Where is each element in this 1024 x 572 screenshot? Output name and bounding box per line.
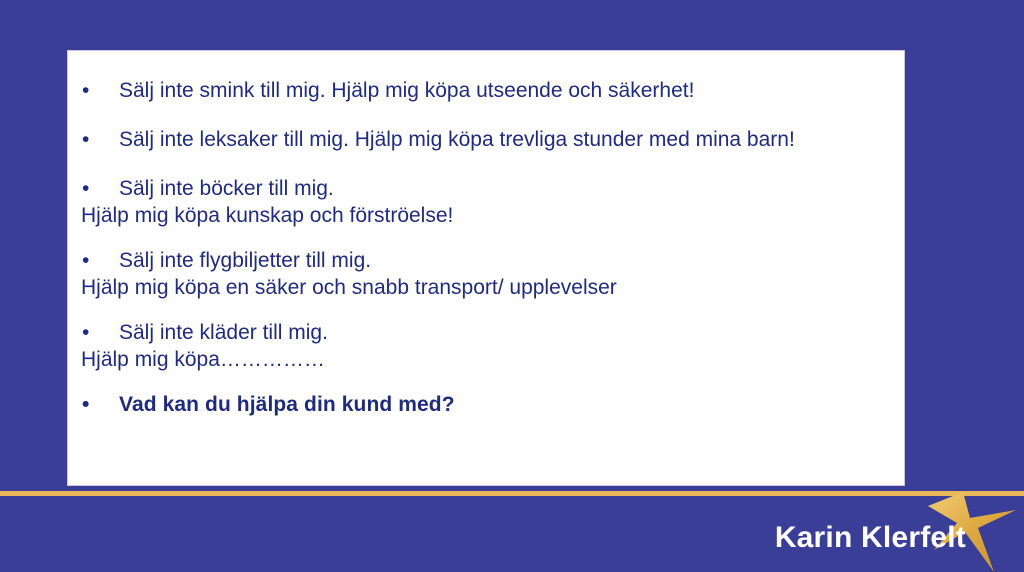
bullet-text: Sälj inte smink till mig. Hjälp mig köpa… <box>119 79 694 102</box>
content-panel: • Sälj inte smink till mig. Hjälp mig kö… <box>67 50 905 486</box>
bullet-text: Sälj inte böcker till mig. <box>119 177 334 200</box>
bullet-text: Sälj inte flygbiljetter till mig. <box>119 249 371 272</box>
bullet-text: Sälj inte leksaker till mig. Hjälp mig k… <box>119 128 795 151</box>
bullet-marker-icon: • <box>82 126 89 153</box>
slide: • Sälj inte smink till mig. Hjälp mig kö… <box>0 0 1024 572</box>
list-item: • Sälj inte kläder till mig. Hjälp mig k… <box>68 319 904 374</box>
list-item-question: • Vad kan du hjälpa din kund med? <box>68 391 904 418</box>
list-item: • Sälj inte flygbiljetter till mig. Hjäl… <box>68 247 904 302</box>
continuation-text: Hjälp mig köpa en säker och snabb transp… <box>68 274 904 302</box>
bullet-line: • Sälj inte kläder till mig. <box>68 319 904 346</box>
bullet-line: • Sälj inte leksaker till mig. Hjälp mig… <box>68 126 904 153</box>
bullet-line: • Sälj inte böcker till mig. <box>68 175 904 202</box>
bullet-marker-icon: • <box>82 247 89 274</box>
bullet-marker-icon: • <box>82 77 89 104</box>
continuation-text: Hjälp mig köpa kunskap och förströelse! <box>68 202 904 230</box>
bullet-line: • Vad kan du hjälpa din kund med? <box>68 391 904 418</box>
continuation-text: Hjälp mig köpa…………… <box>68 346 904 374</box>
list-item: • Sälj inte böcker till mig. Hjälp mig k… <box>68 175 904 230</box>
bullet-text: Sälj inte kläder till mig. <box>119 321 328 344</box>
bullet-marker-icon: • <box>82 319 89 346</box>
presenter-name: Karin Klerfelt <box>775 520 966 556</box>
bullet-text: Vad kan du hjälpa din kund med? <box>119 393 455 416</box>
bullet-marker-icon: • <box>82 175 89 202</box>
bullet-line: • Sälj inte flygbiljetter till mig. <box>68 247 904 274</box>
bullet-line: • Sälj inte smink till mig. Hjälp mig kö… <box>68 77 904 104</box>
bullet-marker-icon: • <box>82 391 89 418</box>
list-item: • Sälj inte smink till mig. Hjälp mig kö… <box>68 77 904 104</box>
bullet-list: • Sälj inte smink till mig. Hjälp mig kö… <box>68 51 904 440</box>
list-item: • Sälj inte leksaker till mig. Hjälp mig… <box>68 126 904 153</box>
